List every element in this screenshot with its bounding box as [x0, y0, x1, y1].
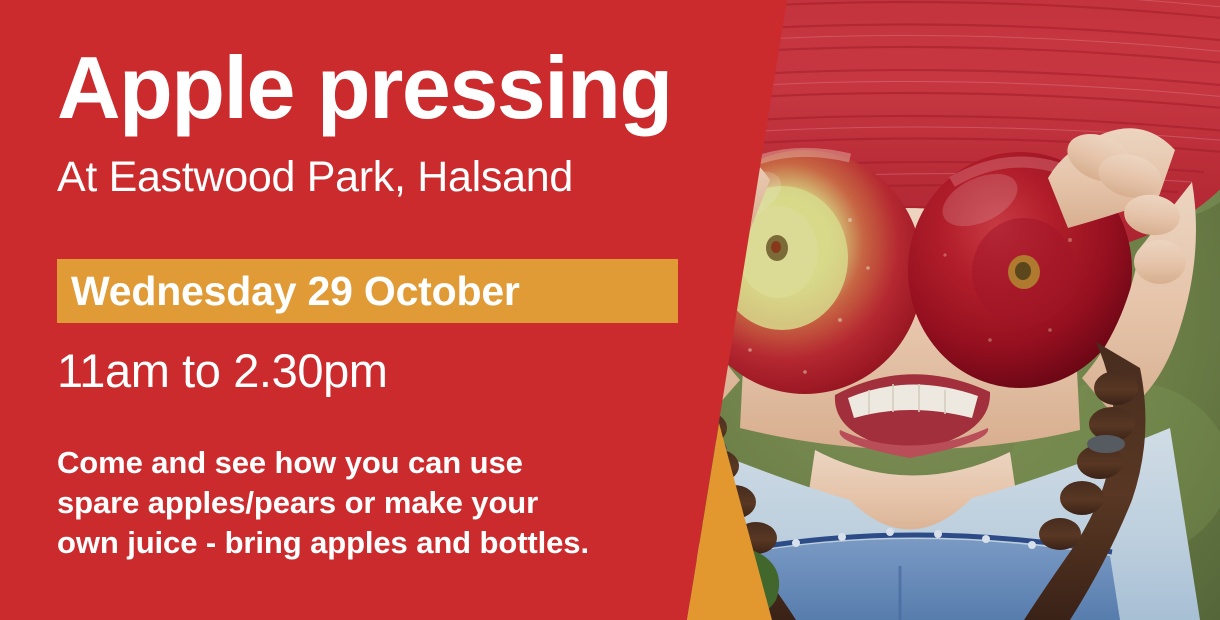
- event-poster: Apple pressing At Eastwood Park, Halsand…: [0, 0, 1220, 620]
- venue-subtitle: At Eastwood Park, Halsand: [57, 156, 573, 199]
- time-text: 11am to 2.30pm: [57, 347, 388, 394]
- date-text: Wednesday 29 October: [71, 268, 520, 315]
- description-line-2: spare apples/pears or make your: [57, 483, 697, 523]
- date-banner: Wednesday 29 October: [57, 259, 678, 323]
- poster-content: Apple pressing At Eastwood Park, Halsand…: [0, 0, 700, 620]
- page-title: Apple pressing: [57, 44, 672, 132]
- description-line-1: Come and see how you can use: [57, 443, 697, 483]
- description-text: Come and see how you can use spare apple…: [57, 443, 697, 563]
- description-line-3: own juice - bring apples and bottles.: [57, 523, 697, 563]
